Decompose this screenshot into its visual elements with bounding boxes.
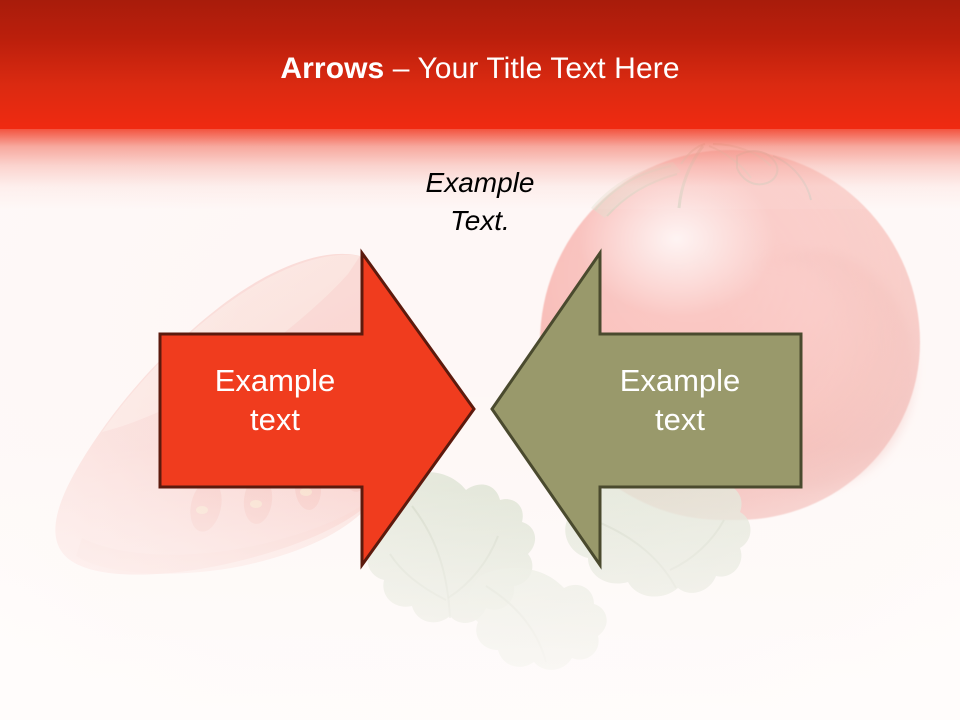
arrow-shapes-group	[0, 0, 960, 720]
slide-canvas: Arrows – Your Title Text Here Example Te…	[0, 0, 960, 720]
left-arrow-label: Example text	[575, 361, 785, 439]
right-arrow-label: Example text	[170, 361, 380, 439]
